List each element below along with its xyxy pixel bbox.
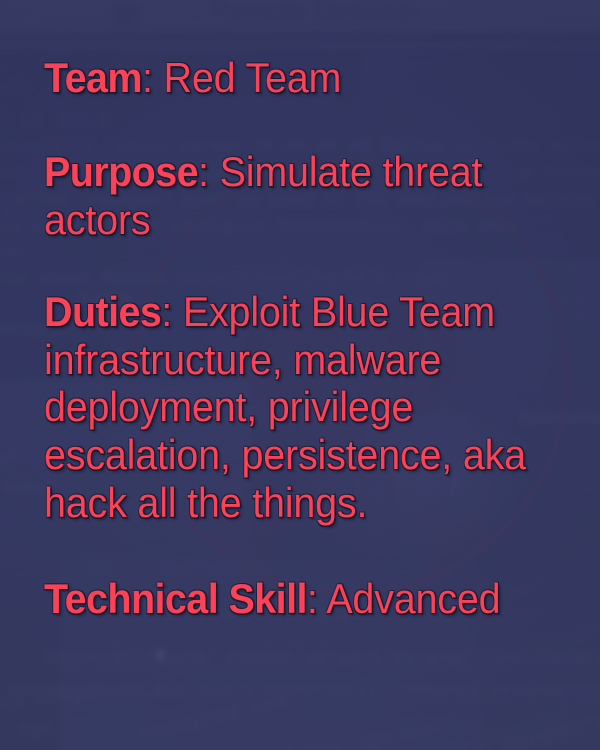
field-team: Team: Red Team [44,54,538,102]
field-duties: Duties: Exploit Blue Team infrastructure… [44,288,538,527]
field-technical-skill: Technical Skill: Advanced [44,575,538,623]
field-duties-label: Duties [44,288,161,335]
role-card: Remote Desktop hell 10.40.4 nnecting to … [0,0,600,750]
field-team-separator: : [142,54,164,101]
field-team-label: Team [44,54,142,101]
field-purpose-separator: : [198,148,220,195]
field-duties-separator: : [161,288,183,335]
role-card-content: Team: Red Team Purpose: Simulate threat … [0,0,600,750]
field-team-value: Red Team [164,54,342,101]
field-technical-skill-value: Advanced [326,575,500,622]
field-purpose: Purpose: Simulate threat actors [44,148,538,244]
field-technical-skill-label: Technical Skill [44,575,307,622]
field-technical-skill-separator: : [307,575,326,622]
field-purpose-label: Purpose [44,148,198,195]
